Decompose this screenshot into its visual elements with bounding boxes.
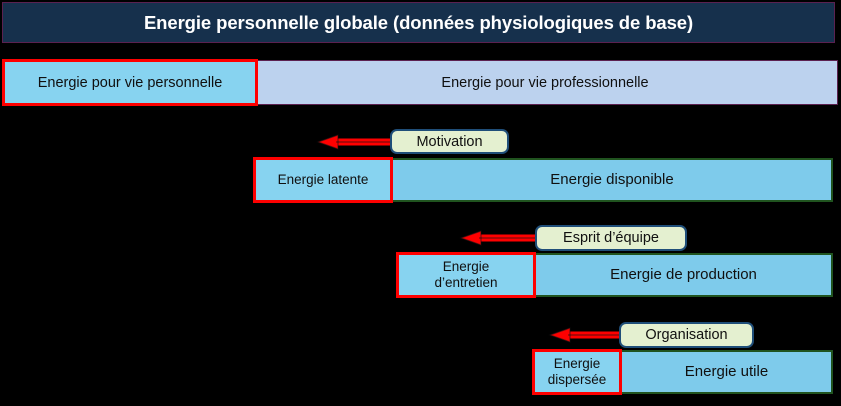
driver-pill-organisation: Organisation [619,322,754,348]
driver-pill-esprit-equipe: Esprit d’équipe [535,225,687,251]
diagram-title-bar: Energie personnelle globale (données phy… [2,2,835,43]
bar-energie-latente: Energie latente [253,157,393,203]
page-title: Energie personnelle globale (données phy… [144,12,693,34]
left-arrow-icon-esprit-equipe [459,230,541,246]
driver-pill-motivation: Motivation [390,129,509,154]
driver-pill-esprit-equipe-label: Esprit d’équipe [563,230,659,246]
bar-energie-d-entretien: Energie d’entretien [396,252,536,298]
left-arrow-icon-organisation [548,327,626,343]
bar-energie-de-production-label: Energie de production [610,266,757,283]
bar-energie-utile: Energie utile [620,350,833,394]
bar-energie-dispersee: Energie dispersée [532,349,622,395]
bar-energie-d-entretien-label: Energie d’entretien [434,259,497,291]
band-personal-energy: Energie pour vie personnelle [2,59,258,106]
diagram-canvas: Energie personnelle globale (données phy… [0,0,841,406]
bar-energie-utile-label: Energie utile [685,363,768,380]
bar-energie-dispersee-label: Energie dispersée [548,356,607,388]
band-professional-energy-label: Energie pour vie professionnelle [191,75,648,91]
left-arrow-icon-motivation [316,134,396,150]
band-personal-energy-label: Energie pour vie personnelle [38,75,223,91]
driver-pill-organisation-label: Organisation [645,327,727,343]
bar-energie-disponible: Energie disponible [391,158,833,202]
bar-energie-disponible-label: Energie disponible [550,171,673,188]
bar-energie-latente-label: Energie latente [278,172,369,188]
bar-energie-de-production: Energie de production [534,253,833,297]
driver-pill-motivation-label: Motivation [416,134,482,150]
